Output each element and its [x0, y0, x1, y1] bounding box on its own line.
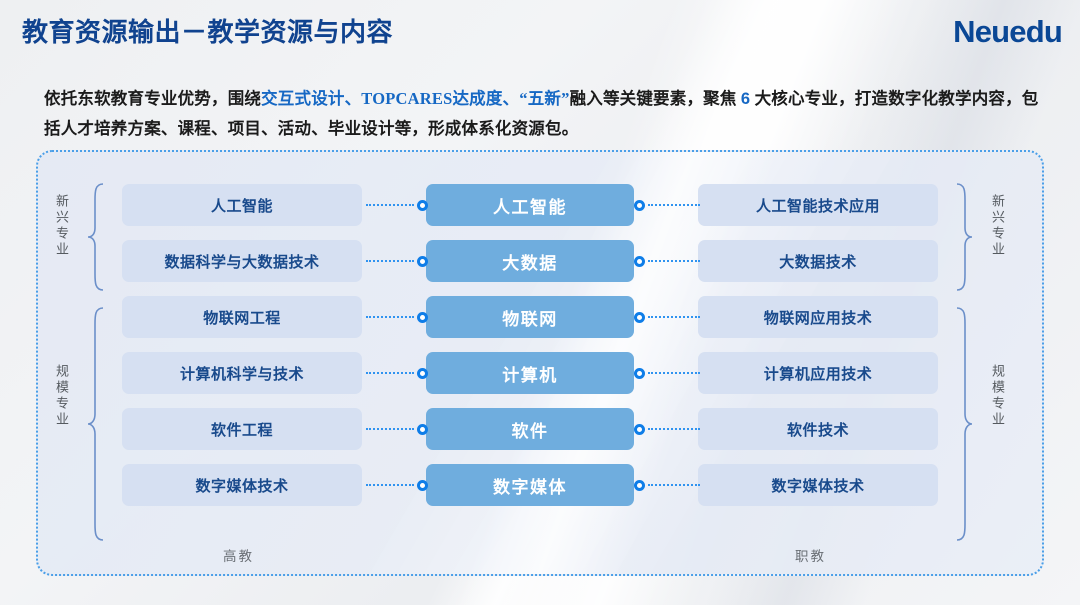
- dotted-line: [366, 484, 414, 486]
- connector-node-icon: [417, 480, 428, 491]
- mid-box-row-1[interactable]: 人工智能: [426, 184, 634, 226]
- right-box-row-6[interactable]: 数字媒体技术: [698, 464, 938, 506]
- connector-right-row-1: [634, 198, 700, 212]
- connector-left-row-2: [366, 254, 428, 268]
- connector-node-icon: [417, 368, 428, 379]
- connector-left-row-6: [366, 478, 428, 492]
- intro-paragraph: 依托东软教育专业优势，围绕交互式设计、TOPCARES达成度、“五新”融入等关键…: [44, 84, 1044, 143]
- spacer: [426, 226, 634, 240]
- bottom-label-higher-education: 高教: [223, 545, 254, 565]
- connector-node-icon: [634, 256, 645, 267]
- mid-box-row-6[interactable]: 数字媒体: [426, 464, 634, 506]
- connector-left-row-3: [366, 310, 428, 324]
- spacer: [426, 450, 634, 464]
- right-box-row-4[interactable]: 计算机应用技术: [698, 352, 938, 394]
- resource-map-container: 新兴专业 规模专业 新兴专业 规模专业 人工智能 数据科学与大数据技术 物联网工…: [36, 150, 1044, 576]
- connector-right-row-2: [634, 254, 700, 268]
- spacer: [698, 394, 938, 408]
- connector-node-icon: [634, 368, 645, 379]
- spacer: [698, 226, 938, 240]
- left-box-row-1[interactable]: 人工智能: [122, 184, 362, 226]
- connector-node-icon: [634, 480, 645, 491]
- page-title: 教育资源输出－教学资源与内容: [22, 12, 393, 49]
- dotted-line: [366, 204, 414, 206]
- connector-node-icon: [417, 256, 428, 267]
- brand-logo: Neuedu: [953, 14, 1062, 50]
- right-brace-emerging: [954, 182, 974, 292]
- dotted-line: [366, 372, 414, 374]
- dotted-line: [648, 428, 700, 430]
- connector-left-row-5: [366, 422, 428, 436]
- left-brace-emerging: [86, 182, 106, 292]
- spacer: [698, 338, 938, 352]
- right-box-row-1[interactable]: 人工智能技术应用: [698, 184, 938, 226]
- connector-right-row-6: [634, 478, 700, 492]
- column-vocational-majors: 人工智能技术应用 大数据技术 物联网应用技术 计算机应用技术 软件技术 数字媒体…: [698, 184, 938, 506]
- group-label-right-scale: 规模专业: [988, 364, 1007, 428]
- dotted-line: [366, 260, 414, 262]
- left-brace-scale: [86, 306, 106, 542]
- spacer: [122, 450, 362, 464]
- connector-right-row-4: [634, 366, 700, 380]
- dotted-line: [366, 316, 414, 318]
- spacer: [698, 450, 938, 464]
- right-box-row-3[interactable]: 物联网应用技术: [698, 296, 938, 338]
- connector-right-row-3: [634, 310, 700, 324]
- spacer: [122, 394, 362, 408]
- group-label-right-emerging: 新兴专业: [988, 194, 1007, 258]
- connector-node-icon: [417, 312, 428, 323]
- left-box-row-4[interactable]: 计算机科学与技术: [122, 352, 362, 394]
- spacer: [426, 282, 634, 296]
- column-undergraduate-majors: 人工智能 数据科学与大数据技术 物联网工程 计算机科学与技术 软件工程 数字媒体…: [122, 184, 362, 506]
- spacer: [122, 338, 362, 352]
- left-box-row-3[interactable]: 物联网工程: [122, 296, 362, 338]
- connector-node-icon: [634, 424, 645, 435]
- dotted-line: [648, 372, 700, 374]
- left-box-row-5[interactable]: 软件工程: [122, 408, 362, 450]
- spacer: [426, 338, 634, 352]
- connector-left-row-4: [366, 366, 428, 380]
- dotted-line: [366, 428, 414, 430]
- mid-box-row-2[interactable]: 大数据: [426, 240, 634, 282]
- connector-left-row-1: [366, 198, 428, 212]
- right-brace-scale: [954, 306, 974, 542]
- slide-canvas: 教育资源输出－教学资源与内容 Neuedu 依托东软教育专业优势，围绕交互式设计…: [0, 0, 1080, 605]
- intro-text-part1: 依托东软教育专业优势，围绕: [44, 89, 261, 108]
- connector-node-icon: [417, 200, 428, 211]
- dotted-line: [648, 260, 700, 262]
- connector-node-icon: [634, 312, 645, 323]
- intro-text-part2: 融入等关键要素，聚焦: [570, 89, 741, 108]
- spacer: [122, 226, 362, 240]
- spacer: [698, 282, 938, 296]
- spacer: [426, 394, 634, 408]
- right-box-row-2[interactable]: 大数据技术: [698, 240, 938, 282]
- connector-right-row-5: [634, 422, 700, 436]
- group-label-left-scale: 规模专业: [52, 364, 71, 428]
- intro-text-highlight: 交互式设计、TOPCARES达成度、“五新”: [261, 89, 569, 108]
- slide-header: 教育资源输出－教学资源与内容 Neuedu: [0, 0, 1080, 62]
- dotted-line: [648, 316, 700, 318]
- left-box-row-2[interactable]: 数据科学与大数据技术: [122, 240, 362, 282]
- mid-box-row-3[interactable]: 物联网: [426, 296, 634, 338]
- column-core-disciplines: 人工智能 大数据 物联网 计算机 软件 数字媒体: [426, 184, 634, 506]
- bottom-label-vocational-education: 职教: [795, 545, 826, 565]
- dotted-line: [648, 204, 700, 206]
- dotted-line: [648, 484, 700, 486]
- right-box-row-5[interactable]: 软件技术: [698, 408, 938, 450]
- intro-core-major-count: 6: [741, 90, 750, 108]
- connector-node-icon: [634, 200, 645, 211]
- group-label-left-emerging: 新兴专业: [52, 194, 71, 258]
- mid-box-row-5[interactable]: 软件: [426, 408, 634, 450]
- mid-box-row-4[interactable]: 计算机: [426, 352, 634, 394]
- spacer: [122, 282, 362, 296]
- left-box-row-6[interactable]: 数字媒体技术: [122, 464, 362, 506]
- connector-node-icon: [417, 424, 428, 435]
